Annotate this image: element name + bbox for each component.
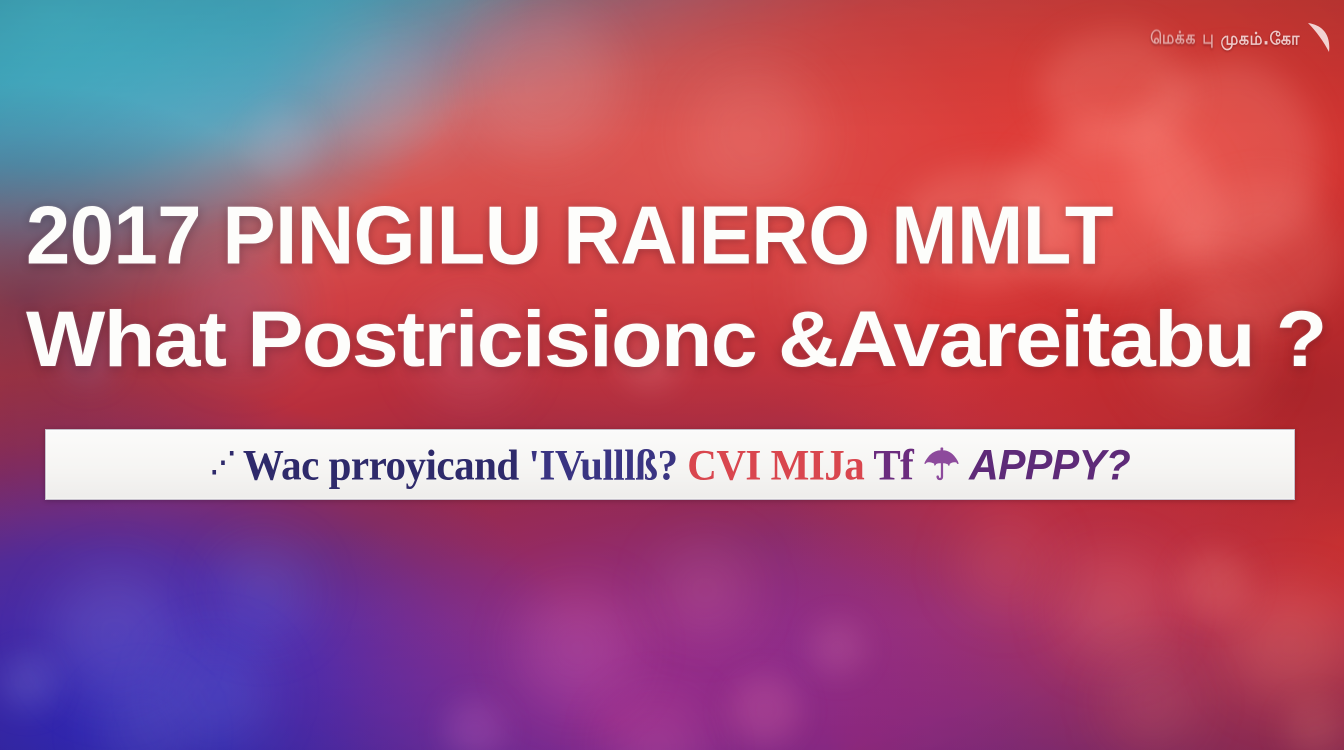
- banner-segment-2: 'IVulllß?: [528, 440, 677, 488]
- headline-line-1: 2017 PINGILU RAIERO MMLT: [26, 194, 1344, 277]
- banner-bullet-mark: ⋰: [210, 447, 234, 477]
- banner-segment-6: APPPY?: [969, 440, 1130, 488]
- banner-ornament-icon: ☂: [923, 440, 959, 488]
- leaf-swoosh-icon: [1306, 22, 1332, 56]
- banner-bar: ⋰ Wac prroyicand 'IVulllß? CVI MIJa Tf ☂…: [45, 429, 1295, 500]
- banner-segment-1: Wac prroyicand: [243, 440, 519, 488]
- watermark: மெக்க பு முகம்.கோ: [1150, 22, 1332, 56]
- banner-segment-3: CVI MIJa: [687, 440, 864, 488]
- banner-text: ⋰ Wac prroyicand 'IVulllß? CVI MIJa Tf ☂…: [210, 439, 1130, 489]
- banner-segment-4: Tf: [873, 440, 913, 488]
- poster-canvas: 2017 PINGILU RAIERO MMLT What Postricisi…: [0, 0, 1344, 750]
- watermark-text-left: மெக்க பு: [1150, 28, 1214, 51]
- watermark-text-right: முகம்.கோ: [1221, 27, 1300, 50]
- headline-line-2: What Postricisionc &Avareitabu ?: [26, 300, 1344, 378]
- headline-block: 2017 PINGILU RAIERO MMLT What Postricisi…: [26, 196, 1326, 374]
